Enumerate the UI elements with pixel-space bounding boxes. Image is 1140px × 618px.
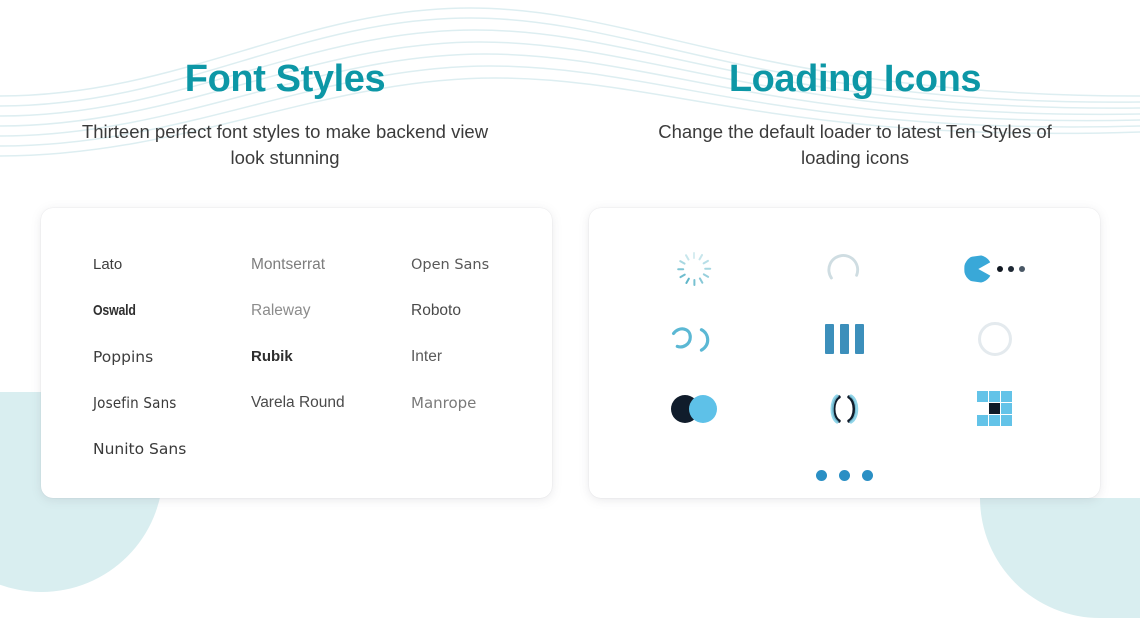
loader-option-5[interactable] bbox=[769, 304, 919, 374]
spinner-radial-ticks-icon bbox=[677, 252, 711, 286]
page-title-loading-icons: Loading Icons bbox=[570, 58, 1140, 102]
loader-option-3[interactable] bbox=[920, 234, 1070, 304]
panel-loading-icons: Loading Icons Change the default loader … bbox=[570, 0, 1140, 578]
loader-option-6[interactable] bbox=[920, 304, 1070, 374]
loader-option-1[interactable] bbox=[619, 234, 769, 304]
font-item-open-sans[interactable]: Open Sans bbox=[411, 242, 571, 288]
font-item-poppins[interactable]: Poppins bbox=[93, 334, 251, 380]
font-item-lato[interactable]: Lato bbox=[93, 242, 251, 288]
loader-option-10[interactable] bbox=[619, 444, 1070, 508]
spinner-three-bars-icon bbox=[825, 324, 864, 354]
spinner-pale-ring-icon bbox=[978, 322, 1012, 356]
panel-font-styles: Font Styles Thirteen perfect font styles… bbox=[0, 0, 570, 578]
loader-option-2[interactable] bbox=[769, 234, 919, 304]
spinner-block-grid-icon bbox=[977, 391, 1012, 426]
loader-option-8[interactable] bbox=[769, 374, 919, 444]
loading-icons-card bbox=[589, 208, 1100, 498]
subtitle-font-styles: Thirteen perfect font styles to make bac… bbox=[75, 119, 495, 172]
font-styles-card: Lato Montserrat Open Sans Oswald Raleway… bbox=[41, 208, 552, 498]
font-item-varela-round[interactable]: Varela Round bbox=[251, 380, 411, 426]
font-styles-grid: Lato Montserrat Open Sans Oswald Raleway… bbox=[41, 242, 552, 472]
spinner-three-dots-icon bbox=[816, 470, 873, 481]
spinner-open-arc-icon bbox=[826, 251, 862, 287]
font-item-rubik[interactable]: Rubik bbox=[251, 334, 411, 380]
page-root: Font Styles Thirteen perfect font styles… bbox=[0, 0, 1140, 578]
loader-option-7[interactable] bbox=[619, 374, 769, 444]
font-item-oswald[interactable]: Oswald bbox=[93, 288, 223, 334]
spinner-facing-brackets-icon bbox=[824, 391, 864, 427]
font-item-josefin-sans[interactable]: Josefin Sans bbox=[93, 380, 235, 426]
spinner-pacman-dots-icon bbox=[964, 255, 1025, 283]
font-item-roboto[interactable]: Roboto bbox=[411, 288, 571, 334]
font-item-inter[interactable]: Inter bbox=[411, 334, 571, 380]
font-item-montserrat[interactable]: Montserrat bbox=[251, 242, 411, 288]
page-title-font-styles: Font Styles bbox=[0, 58, 570, 102]
loader-option-4[interactable] bbox=[619, 304, 769, 374]
font-item-raleway[interactable]: Raleway bbox=[251, 288, 411, 334]
loader-option-9[interactable] bbox=[920, 374, 1070, 444]
font-item-nunito-sans[interactable]: Nunito Sans bbox=[93, 426, 251, 472]
spinner-twin-curves-icon bbox=[668, 322, 720, 356]
loading-icons-grid bbox=[589, 208, 1100, 508]
subtitle-loading-icons: Change the default loader to latest Ten … bbox=[645, 119, 1065, 172]
spinner-two-discs-icon bbox=[671, 395, 717, 423]
font-item-manrope[interactable]: Manrope bbox=[411, 380, 571, 426]
